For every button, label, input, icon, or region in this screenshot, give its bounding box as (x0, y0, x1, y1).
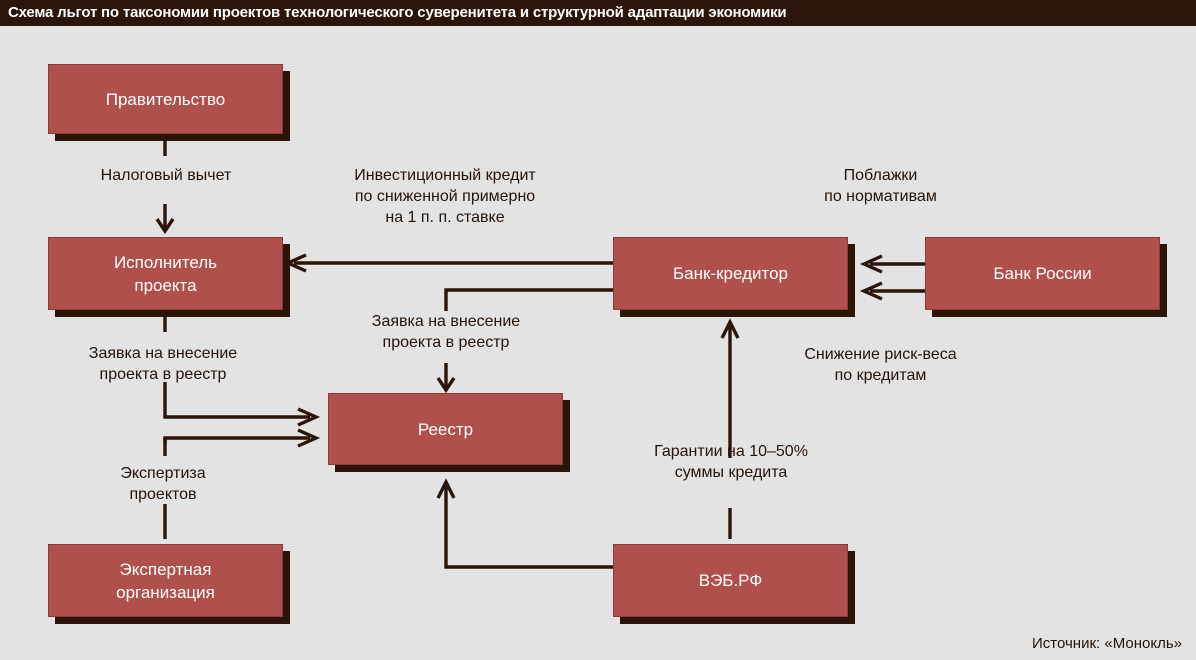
node-executor[interactable]: Исполнитель проекта (48, 237, 283, 310)
source-note: Источник: «Монокль» (1032, 635, 1182, 652)
wire-expert-registry-top (165, 438, 310, 443)
node-label: Экспертная организация (116, 558, 215, 604)
node-expert-organization[interactable]: Экспертная организация (48, 544, 283, 617)
node-creditor-bank[interactable]: Банк-кредитор (613, 237, 848, 310)
edge-label-regulatory-relief: Поблажки по нормативам (778, 165, 983, 207)
node-label: Реестр (418, 418, 473, 441)
node-label: Банк России (993, 262, 1091, 285)
page-title: Схема льгот по таксономии проектов техно… (8, 4, 786, 21)
node-government[interactable]: Правительство (48, 64, 283, 134)
node-bank-of-russia[interactable]: Банк России (925, 237, 1160, 310)
title-bar: Схема льгот по таксономии проектов техно… (0, 0, 1196, 26)
wire-bank-registry-top (446, 290, 613, 311)
edge-label-registry-application-executor: Заявка на внесение проекта в реестр (48, 343, 278, 385)
arrowhead-cbr-bank-2 (864, 283, 882, 299)
edge-label-registry-application-bank: Заявка на внесение проекта в реестр (332, 311, 560, 353)
arrowhead-bank-exec (288, 255, 306, 271)
wire-veb-registry (446, 486, 613, 567)
diagram-canvas: Правительство Исполнитель проекта Экспер… (0, 26, 1196, 660)
node-label: Исполнитель проекта (114, 251, 217, 297)
node-label: ВЭБ.РФ (699, 569, 763, 592)
wire-exec-registry (165, 382, 310, 417)
arrowhead-bank-registry (438, 378, 454, 390)
node-label: Банк-кредитор (673, 262, 788, 285)
arrowhead-gov-exec (157, 219, 173, 231)
arrowhead-cbr-bank-1 (864, 256, 882, 272)
edge-label-investment-credit: Инвестиционный кредит по сниженной приме… (320, 165, 570, 228)
node-veb-rf[interactable]: ВЭБ.РФ (613, 544, 848, 617)
edge-label-risk-weight-reduction: Снижение риск-веса по кредитам (773, 344, 988, 386)
node-label: Правительство (106, 88, 226, 111)
edge-label-tax-deduction: Налоговый вычет (52, 165, 280, 186)
arrowhead-exec-registry (298, 409, 316, 425)
node-registry[interactable]: Реестр (328, 393, 563, 465)
arrowhead-veb-bank (722, 322, 738, 338)
edge-label-loan-guarantees: Гарантии на 10–50% суммы кредита (620, 441, 842, 483)
arrowhead-veb-registry (438, 482, 454, 498)
arrowhead-expert-registry (298, 430, 316, 446)
edge-label-project-expertise: Экспертиза проектов (52, 463, 274, 505)
